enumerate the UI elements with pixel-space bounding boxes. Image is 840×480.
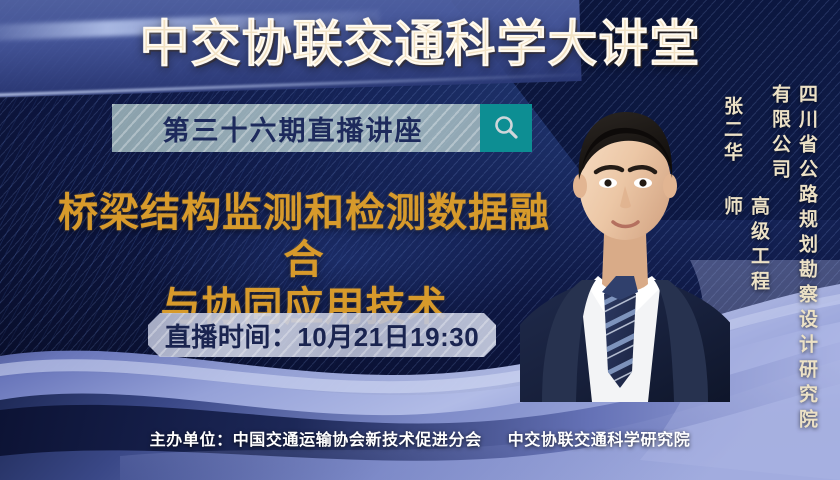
organizer-primary: 中国交通运输协会新技术促进分会 bbox=[233, 432, 482, 449]
organizer-label: 主办单位： bbox=[150, 432, 233, 449]
page-title: 中交协联交通科学大讲堂 bbox=[0, 16, 840, 72]
episode-banner: 第三十六期直播讲座 bbox=[112, 104, 532, 152]
speaker-rank: 高级工程师 bbox=[718, 196, 772, 302]
lecture-title: 桥梁结构监测和检测数据融合 与协同应用技术 bbox=[44, 190, 564, 331]
organizer-footer: 主办单位：中国交通运输协会新技术促进分会中交协联交通科学研究院 bbox=[0, 426, 840, 450]
speaker-organization: 四川省公路规划勘察设计研究院有限公司 bbox=[766, 84, 820, 456]
broadcast-time-label: 直播时间：10月21日19:30 bbox=[165, 317, 479, 354]
search-icon[interactable] bbox=[480, 104, 532, 152]
speaker-name: 张二华 bbox=[718, 96, 745, 180]
lecture-title-line-1: 桥梁结构监测和检测数据融合 bbox=[58, 191, 550, 282]
broadcast-time-banner: 直播时间：10月21日19:30 bbox=[148, 313, 496, 357]
webinar-poster: 中交协联交通科学大讲堂 第三十六期直播讲座 桥梁结构监测和检测数据融合 与协同应… bbox=[0, 0, 840, 480]
organizer-secondary: 中交协联交通科学研究院 bbox=[508, 432, 691, 449]
episode-label: 第三十六期直播讲座 bbox=[112, 104, 480, 152]
